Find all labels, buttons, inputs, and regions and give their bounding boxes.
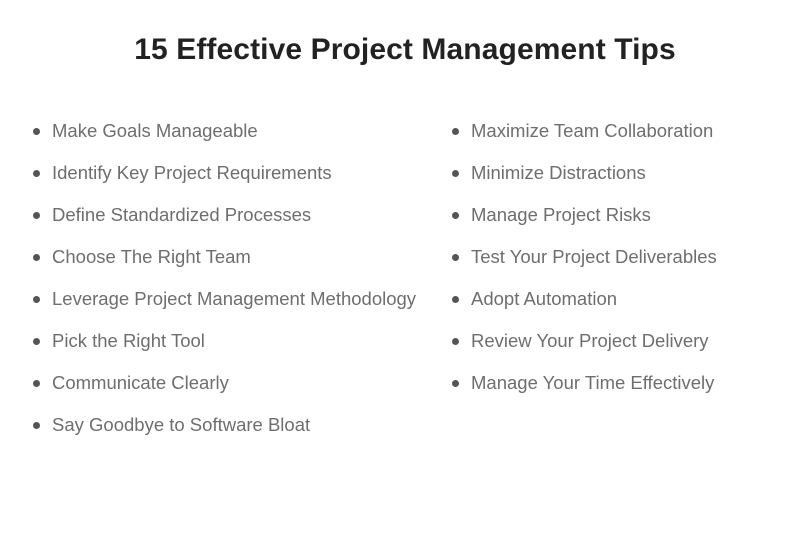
list-item: Make Goals Manageable (33, 110, 441, 152)
bullet-dot-icon (452, 380, 459, 387)
list-item-label: Test Your Project Deliverables (471, 245, 717, 269)
list-item: Define Standardized Processes (33, 194, 441, 236)
page-title: 15 Effective Project Management Tips (0, 30, 810, 70)
list-item: Minimize Distractions (452, 152, 810, 194)
list-item: Test Your Project Deliverables (452, 236, 810, 278)
list-item: Communicate Clearly (33, 362, 441, 404)
bullet-dot-icon (33, 170, 40, 177)
bullet-dot-icon (33, 338, 40, 345)
bullet-dot-icon (452, 338, 459, 345)
bullet-dot-icon (452, 170, 459, 177)
list-item-label: Review Your Project Delivery (471, 329, 709, 353)
list-item-label: Maximize Team Collaboration (471, 119, 713, 143)
bullet-dot-icon (452, 254, 459, 261)
bullet-dot-icon (33, 128, 40, 135)
bullet-dot-icon (452, 128, 459, 135)
bullet-dot-icon (33, 254, 40, 261)
bullet-dot-icon (33, 422, 40, 429)
list-item-label: Adopt Automation (471, 287, 617, 311)
list-item-label: Manage Project Risks (471, 203, 651, 227)
list-item: Choose The Right Team (33, 236, 441, 278)
tips-column-right: Maximize Team Collaboration Minimize Dis… (441, 110, 810, 404)
list-item-label: Say Goodbye to Software Bloat (52, 413, 310, 437)
bullet-dot-icon (33, 212, 40, 219)
list-item-label: Choose The Right Team (52, 245, 251, 269)
list-item-label: Make Goals Manageable (52, 119, 258, 143)
list-item: Manage Your Time Effectively (452, 362, 810, 404)
tips-column-left: Make Goals Manageable Identify Key Proje… (0, 110, 441, 446)
list-item-label: Define Standardized Processes (52, 203, 311, 227)
list-item: Leverage Project Management Methodology (33, 278, 441, 320)
list-item: Manage Project Risks (452, 194, 810, 236)
list-item-label: Communicate Clearly (52, 371, 229, 395)
bullet-dot-icon (33, 296, 40, 303)
tips-page: 15 Effective Project Management Tips Mak… (0, 0, 810, 539)
list-item-label: Leverage Project Management Methodology (52, 287, 416, 311)
list-item: Identify Key Project Requirements (33, 152, 441, 194)
list-item: Review Your Project Delivery (452, 320, 810, 362)
list-item-label: Pick the Right Tool (52, 329, 205, 353)
list-item: Maximize Team Collaboration (452, 110, 810, 152)
bullet-dot-icon (452, 296, 459, 303)
list-item: Say Goodbye to Software Bloat (33, 404, 441, 446)
bullet-dot-icon (33, 380, 40, 387)
list-item-label: Identify Key Project Requirements (52, 161, 332, 185)
list-item-label: Minimize Distractions (471, 161, 646, 185)
list-item: Adopt Automation (452, 278, 810, 320)
list-item-label: Manage Your Time Effectively (471, 371, 714, 395)
bullet-dot-icon (452, 212, 459, 219)
tips-list: Make Goals Manageable Identify Key Proje… (0, 110, 810, 446)
list-item: Pick the Right Tool (33, 320, 441, 362)
